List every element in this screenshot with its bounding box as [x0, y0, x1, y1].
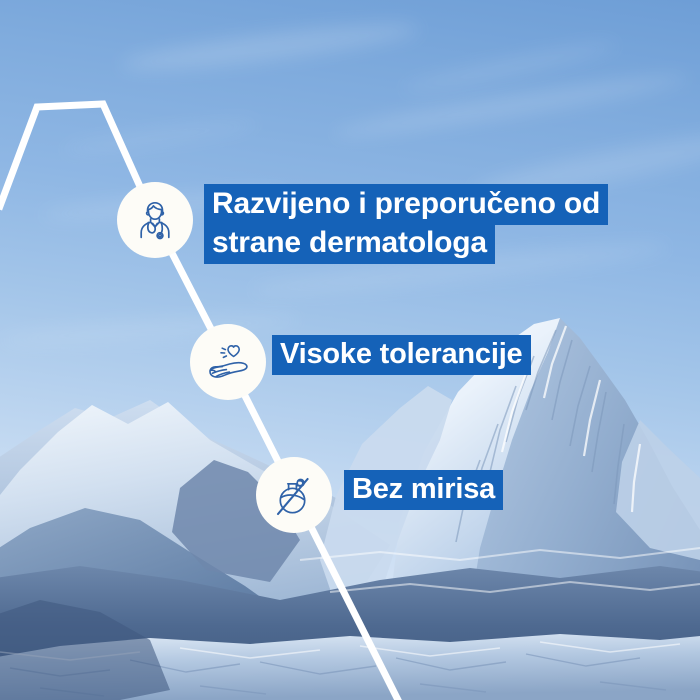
- feature-badge-fragrance-free: Bez mirisa: [344, 471, 604, 509]
- feature-text-tolerance-value: Visoke tolerancije: [272, 335, 531, 375]
- no-fragrance-bottle-icon: [269, 470, 319, 520]
- feature-text-dermatologist-value: Razvijeno i preporučeno od strane dermat…: [204, 184, 608, 264]
- promo-banner: Razvijeno i preporučeno od strane dermat…: [0, 0, 700, 700]
- feature-icon-dermatologist: [117, 182, 193, 258]
- feature-icon-tolerance: [190, 324, 266, 400]
- feature-text-fragrance-free-value: Bez mirisa: [344, 470, 503, 510]
- feature-badge-tolerance: Visoke tolerancije: [272, 336, 572, 374]
- feature-badge-dermatologist: Razvijeno i preporučeno od strane dermat…: [204, 184, 614, 262]
- feature-text-fragrance-free: Bez mirisa: [344, 471, 604, 509]
- doctor-stethoscope-icon: [131, 196, 179, 244]
- feature-text-dermatologist: Razvijeno i preporučeno od strane dermat…: [204, 184, 614, 262]
- hand-heart-icon: [203, 337, 253, 387]
- feature-icon-fragrance-free: [256, 457, 332, 533]
- feature-text-tolerance: Visoke tolerancije: [272, 336, 572, 374]
